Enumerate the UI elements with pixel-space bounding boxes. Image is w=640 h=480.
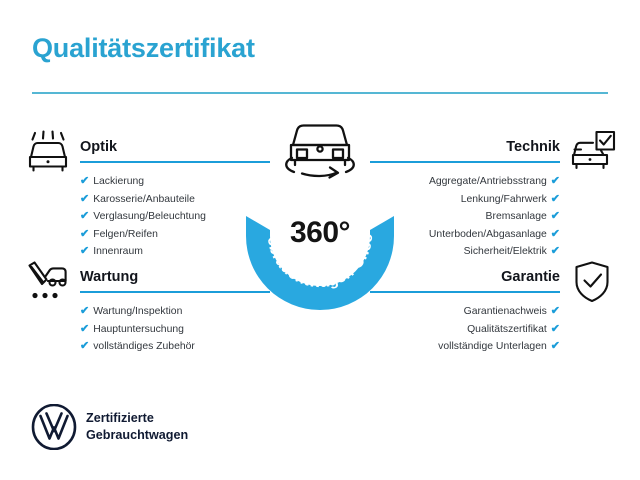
check-icon: ✔ <box>80 228 89 240</box>
footer-logo-line2: Gebrauchtwagen <box>86 427 188 444</box>
section-garantie-list: Garantienachweis✔ Qualitätszertifikat✔ v… <box>370 303 560 356</box>
list-item-label: Karosserie/Anbauteile <box>93 194 195 205</box>
check-icon: ✔ <box>551 175 560 187</box>
list-item-label: Bremsanlage <box>486 211 547 222</box>
volkswagen-logo-icon <box>31 404 77 450</box>
car-front-checkbox-icon <box>568 130 616 174</box>
check-icon: ✔ <box>551 305 560 317</box>
list-item-label: Garantienachweis <box>464 306 547 317</box>
badge-360-gebrauchtwagen-check: Gebrauchtwagen-Check 360° <box>231 118 409 310</box>
list-item-label: Lenkung/Fahrwerk <box>461 194 547 205</box>
list-item-label: Sicherheit/Elektrik <box>464 246 547 257</box>
list-item-label: Unterboden/Abgasanlage <box>429 229 547 240</box>
certificate-page: Qualitätszertifikat Optik ✔Lackierung <box>0 0 640 480</box>
section-wartung-list: ✔Wartung/Inspektion ✔Hauptuntersuchung ✔… <box>80 303 270 356</box>
list-item-label: Aggregate/Antriebsstrang <box>429 176 547 187</box>
list-item-label: Wartung/Inspektion <box>93 306 182 317</box>
check-icon: ✔ <box>80 175 89 187</box>
check-icon: ✔ <box>551 193 560 205</box>
check-icon: ✔ <box>80 193 89 205</box>
badge-center-label: 360° <box>231 216 409 250</box>
check-icon: ✔ <box>80 245 89 257</box>
list-item-label: Verglasung/Beleuchtung <box>93 211 206 222</box>
car-front-rotate-icon <box>280 118 360 180</box>
check-icon: ✔ <box>80 323 89 335</box>
check-icon: ✔ <box>80 210 89 222</box>
list-item-label: Hauptuntersuchung <box>93 324 184 335</box>
page-title: Qualitätszertifikat <box>32 33 255 64</box>
list-item-label: vollständige Unterlagen <box>438 341 547 352</box>
list-item: ✔Hauptuntersuchung <box>80 321 270 339</box>
check-icon: ✔ <box>551 228 560 240</box>
list-item-label: Felgen/Reifen <box>93 229 158 240</box>
list-item-label: vollständiges Zubehör <box>93 341 195 352</box>
shield-check-icon <box>568 260 616 304</box>
check-icon: ✔ <box>551 323 560 335</box>
list-item: Qualitätszertifikat✔ <box>370 321 560 339</box>
check-icon: ✔ <box>80 305 89 317</box>
check-icon: ✔ <box>551 340 560 352</box>
list-item-label: Lackierung <box>93 176 144 187</box>
title-divider <box>32 92 608 94</box>
footer-logo-line1: Zertifizierte <box>86 410 188 427</box>
list-item-label: Innenraum <box>93 246 143 257</box>
list-item-label: Qualitätszertifikat <box>467 324 547 335</box>
car-front-sparkle-icon <box>24 130 72 174</box>
footer-logo: Zertifizierte Gebrauchtwagen <box>31 404 261 452</box>
pen-car-dots-icon <box>24 260 72 304</box>
check-icon: ✔ <box>551 245 560 257</box>
list-item: ✔vollständiges Zubehör <box>80 338 270 356</box>
check-icon: ✔ <box>551 210 560 222</box>
list-item: vollständige Unterlagen✔ <box>370 338 560 356</box>
check-icon: ✔ <box>80 340 89 352</box>
footer-logo-text: Zertifizierte Gebrauchtwagen <box>86 410 188 443</box>
